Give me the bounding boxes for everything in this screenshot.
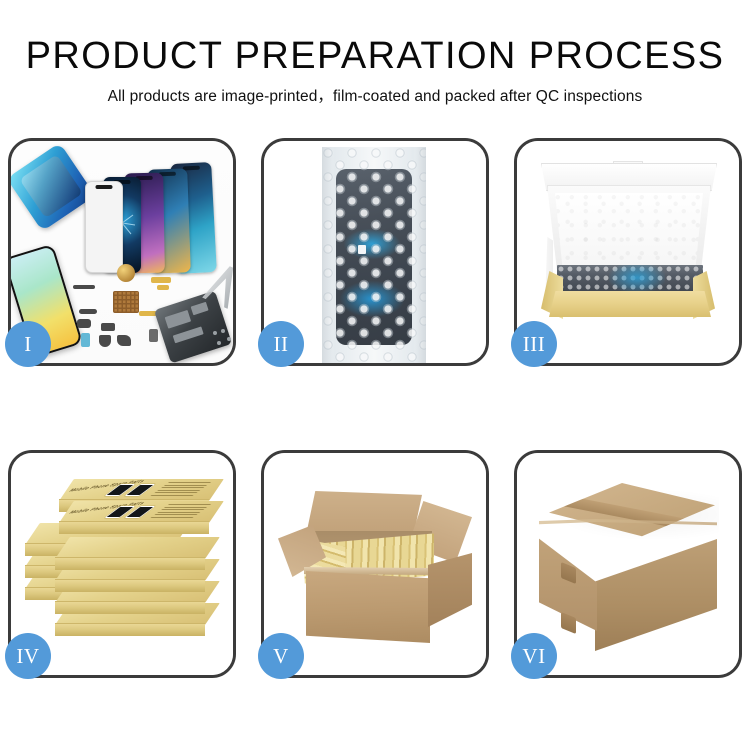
- step-card-3[interactable]: III: [514, 138, 742, 366]
- part-logic-board: [154, 290, 232, 363]
- sleeve-edge-left: [322, 147, 333, 363]
- steps-row-top: I II: [8, 138, 742, 366]
- part-connector-a: [79, 309, 97, 314]
- step-card-2[interactable]: II: [261, 138, 489, 366]
- step-badge-4: IV: [5, 633, 51, 679]
- foam-liner: [555, 193, 703, 267]
- part-module-a: [101, 323, 115, 331]
- steps-row-bottom: Mobile Phone Spare Parts: [8, 450, 742, 678]
- carton-front-face: [595, 539, 717, 651]
- page-title: PRODUCT PREPARATION PROCESS: [0, 0, 750, 78]
- step-card-4[interactable]: Mobile Phone Spare Parts: [8, 450, 236, 678]
- part-flex-cable-a: [151, 277, 171, 283]
- phone-screen-1-blank: [85, 181, 123, 273]
- sealed-shipping-carton: [539, 483, 725, 659]
- part-buzzer: [117, 335, 131, 346]
- step-card-5[interactable]: V: [261, 450, 489, 678]
- box-feature-list: [148, 504, 212, 520]
- retail-box: [55, 537, 205, 571]
- step-badge-2: II: [258, 321, 304, 367]
- page-subtitle: All products are image-printed，film-coat…: [0, 78, 750, 107]
- carton-front-face: [306, 571, 430, 643]
- part-battery: [81, 333, 90, 347]
- header: PRODUCT PREPARATION PROCESS All products…: [0, 0, 750, 107]
- part-chip-array: [113, 291, 139, 313]
- part-camera: [149, 329, 158, 342]
- step-badge-5: V: [258, 633, 304, 679]
- retail-box-labeled: Mobile Phone Spare Parts: [59, 501, 209, 535]
- part-vibrator-coin: [117, 264, 135, 282]
- mailer-front-wall: [549, 291, 711, 317]
- part-speaker: [73, 285, 95, 289]
- open-shipping-carton: [280, 487, 474, 655]
- bubble-highlights: [322, 147, 426, 363]
- part-flex-cable-b: [157, 285, 169, 290]
- box-feature-list: [148, 482, 212, 498]
- step-card-1[interactable]: I: [8, 138, 236, 366]
- step-badge-3: III: [511, 321, 557, 367]
- retail-box-stack: Mobile Phone Spare Parts: [25, 479, 223, 661]
- steps-grid: I II: [8, 138, 742, 683]
- product-preparation-infographic: PRODUCT PREPARATION PROCESS All products…: [0, 0, 750, 750]
- step-badge-1: I: [5, 321, 51, 367]
- sleeve-edge-right: [415, 147, 426, 363]
- step-badge-6: VI: [511, 633, 557, 679]
- step-card-6[interactable]: VI: [514, 450, 742, 678]
- part-earpiece: [99, 335, 111, 347]
- spare-parts-group: [73, 267, 233, 363]
- carton-right-face: [428, 553, 472, 627]
- phone-screen-fan: [85, 153, 230, 273]
- bubble-wrap-sleeve: [322, 147, 426, 363]
- part-connector-b: [77, 319, 91, 328]
- wrapped-items-in-box: [557, 265, 703, 293]
- screen-protector-film-icon: [11, 143, 95, 232]
- part-screws: [213, 329, 233, 347]
